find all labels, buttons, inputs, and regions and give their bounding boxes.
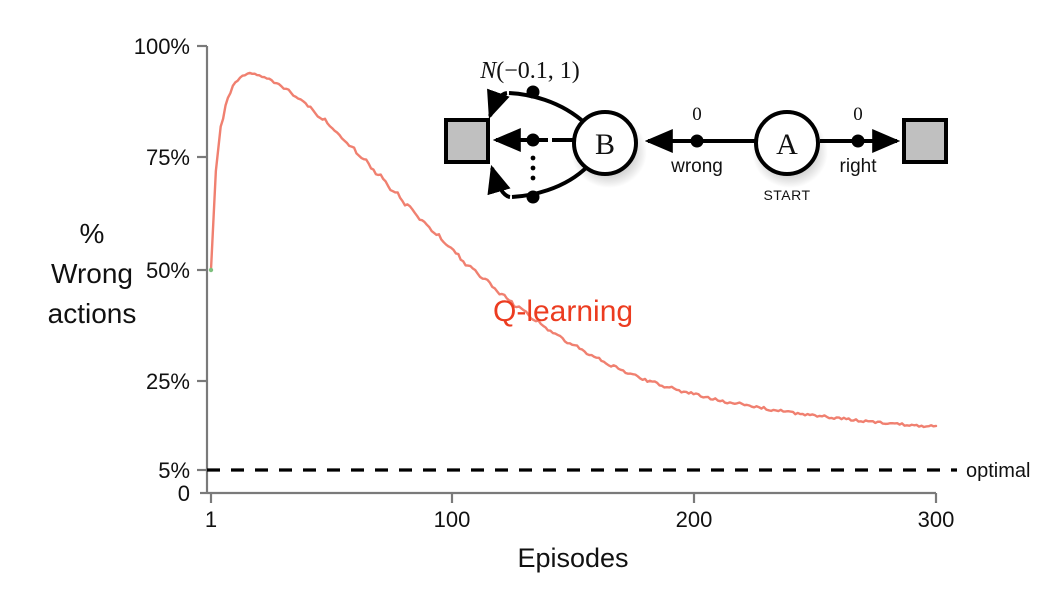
y-axis-ticks bbox=[197, 46, 207, 493]
series-label-q-learning: Q-learning bbox=[493, 295, 633, 328]
y-tick-label-75: 75% bbox=[146, 145, 190, 170]
dist-comma: , bbox=[548, 58, 560, 84]
chart-canvas: 100% 75% 50% 25% 5% 0 1 100 200 300 Epis… bbox=[0, 0, 1059, 592]
ellipsis-dot-3 bbox=[531, 176, 536, 181]
x-axis-title: Episodes bbox=[517, 543, 628, 573]
x-tick-label-300: 300 bbox=[918, 507, 955, 532]
terminal-right-square bbox=[904, 120, 946, 162]
y-tick-label-25: 25% bbox=[146, 369, 190, 394]
x-tick-label-1: 1 bbox=[205, 507, 217, 532]
edge-right-reward-dot bbox=[852, 135, 865, 148]
edge-right-reward-label: 0 bbox=[853, 104, 863, 125]
series-start-marker bbox=[209, 268, 213, 272]
optimal-label: optimal bbox=[966, 460, 1030, 482]
dist-variance: 1 bbox=[560, 58, 572, 84]
dist-close-paren: ) bbox=[572, 58, 580, 84]
b-to-terminal-arc-upper-right bbox=[509, 93, 586, 124]
reward-dot-lower bbox=[527, 191, 540, 204]
ellipsis-dot-2 bbox=[531, 166, 536, 171]
series-line-q-learning bbox=[211, 73, 936, 427]
y-axis-title-line-3: actions bbox=[48, 298, 137, 329]
y-tick-label-5: 5% bbox=[158, 458, 190, 483]
reward-dot-upper bbox=[527, 86, 540, 99]
x-axis-ticks bbox=[211, 493, 936, 503]
y-axis-title-line-1: % bbox=[80, 218, 105, 249]
terminal-left-square bbox=[446, 120, 488, 162]
dist-open-paren: ( bbox=[496, 58, 504, 84]
y-tick-label-0: 0 bbox=[178, 481, 190, 506]
chart-figure: 100% 75% 50% 25% 5% 0 1 100 200 300 Epis… bbox=[0, 0, 1059, 592]
b-to-terminal-arc-lower-left bbox=[492, 168, 510, 197]
x-tick-label-100: 100 bbox=[434, 507, 471, 532]
node-a-label: A bbox=[776, 128, 798, 161]
y-tick-label-100: 100% bbox=[134, 34, 190, 59]
x-tick-label-200: 200 bbox=[676, 507, 713, 532]
node-b-label: B bbox=[595, 128, 615, 161]
y-axis-title-line-2: Wrong bbox=[51, 258, 133, 289]
dist-mean: −0.1 bbox=[504, 58, 548, 84]
ellipsis-dot-1 bbox=[531, 156, 536, 161]
node-a-start-sublabel: START bbox=[763, 187, 810, 203]
mdp-inset-diagram: B A START 0 wrong 0 right N(−0.1, 1) bbox=[446, 58, 946, 204]
edge-wrong-reward-label: 0 bbox=[692, 104, 702, 125]
edge-right-action-label: right bbox=[840, 156, 878, 177]
y-tick-label-50: 50% bbox=[146, 258, 190, 283]
edge-wrong-reward-dot bbox=[691, 135, 704, 148]
b-to-terminal-arc-upper-left bbox=[490, 93, 507, 116]
reward-distribution-label: N(−0.1, 1) bbox=[479, 58, 580, 84]
reward-dot-middle bbox=[527, 134, 540, 147]
edge-wrong-action-label: wrong bbox=[670, 156, 723, 177]
